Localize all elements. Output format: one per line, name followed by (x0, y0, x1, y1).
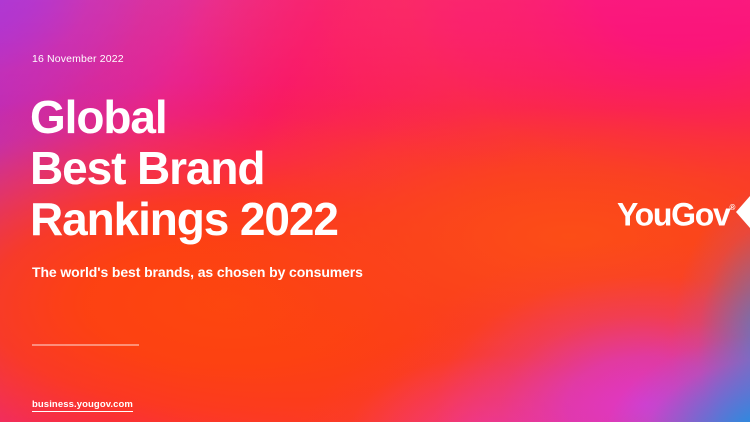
page-title: Global Best Brand Rankings 2022 (30, 92, 338, 245)
divider (32, 344, 139, 346)
page-title-line-3: Rankings 2022 (30, 194, 338, 245)
yougov-wordmark: YouGov (617, 197, 730, 233)
page-title-line-1: Global (30, 92, 338, 143)
chevron-left-icon (736, 196, 750, 228)
yougov-logo: YouGov® (617, 192, 735, 235)
page-subtitle: The world's best brands, as chosen by co… (32, 264, 363, 280)
slide-content: 16 November 2022 Global Best Brand Ranki… (0, 0, 750, 422)
page-title-line-2: Best Brand (30, 143, 338, 194)
title-slide: 16 November 2022 Global Best Brand Ranki… (0, 0, 750, 422)
registered-trademark-icon: ® (730, 203, 736, 212)
website-link[interactable]: business.yougov.com (32, 399, 133, 412)
publication-date: 16 November 2022 (32, 53, 124, 65)
